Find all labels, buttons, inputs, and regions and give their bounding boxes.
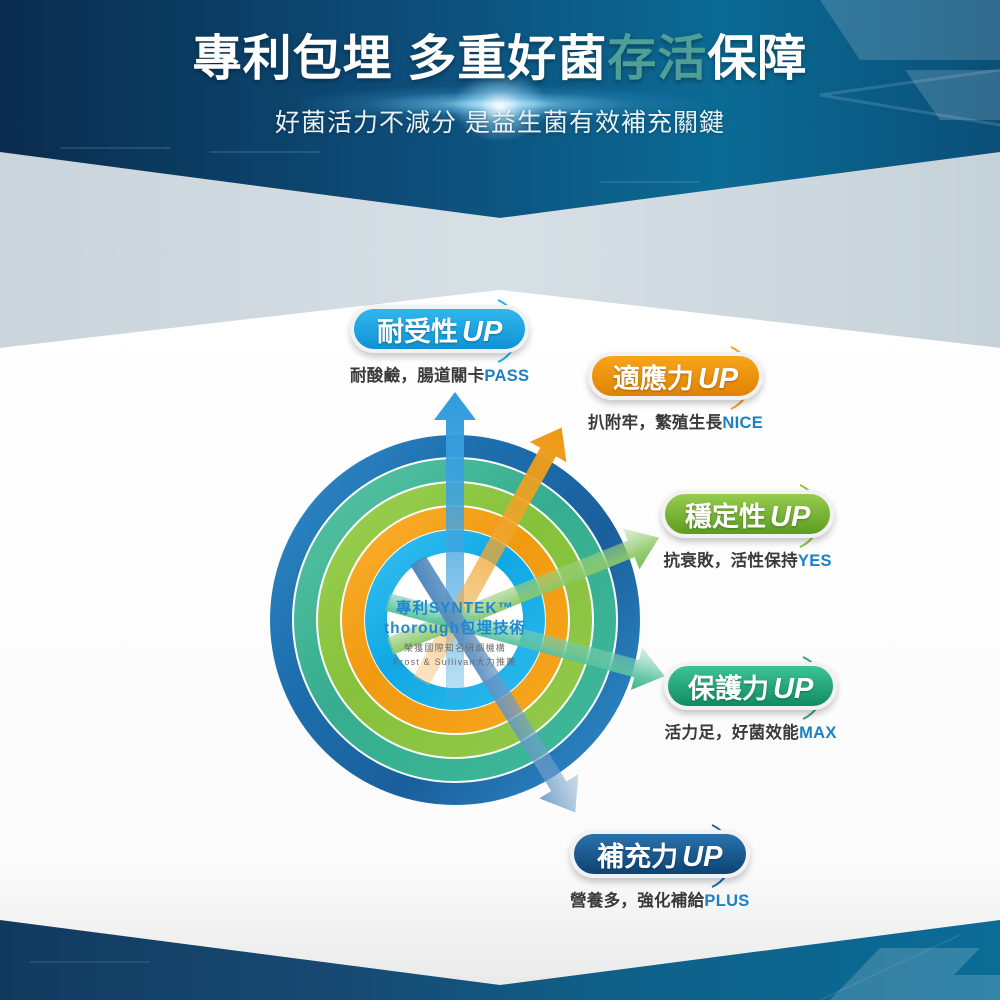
badge-supplement-label: 補充力UP — [597, 835, 722, 874]
center-label: 專利SYNTEK™ thorough包埋技術 榮獲國際知名研調機構 Frost … — [384, 598, 526, 667]
badge-tolerance-pill[interactable]: 耐受性UP — [350, 305, 529, 353]
concentric-ring-diagram: 專利SYNTEK™ thorough包埋技術 榮獲國際知名研調機構 Frost … — [0, 0, 1000, 1000]
badge-tolerance[interactable]: 耐受性UP 耐酸鹼，腸道關卡PASS — [350, 305, 529, 386]
badge-protection-pill[interactable]: 保護力UP — [664, 662, 837, 710]
infographic-stage: 專利包埋 多重好菌存活保障 好菌活力不減分 是益生菌有效補充關鍵 — [0, 0, 1000, 1000]
center-line-4: Frost & Sullivan大力推薦 — [393, 656, 516, 667]
badge-stability-caption: 抗衰敗，活性保持YES — [661, 547, 834, 571]
center-line-2: thorough包埋技術 — [384, 618, 526, 637]
badge-stability-label: 穩定性UP — [685, 495, 810, 534]
center-line-1: 專利SYNTEK™ — [396, 598, 514, 617]
badge-protection-caption: 活力足，好菌效能MAX — [664, 719, 837, 743]
badge-adaptability[interactable]: 適應力UP 扒附牢，繁殖生長NICE — [588, 352, 763, 433]
center-line-3: 榮獲國際知名研調機構 — [404, 642, 506, 653]
badge-protection-label: 保護力UP — [688, 667, 813, 706]
badge-adaptability-caption: 扒附牢，繁殖生長NICE — [588, 409, 763, 433]
badge-protection[interactable]: 保護力UP 活力足，好菌效能MAX — [664, 662, 837, 743]
badge-supplement[interactable]: 補充力UP 營養多，強化補給PLUS — [570, 830, 750, 911]
badge-supplement-pill[interactable]: 補充力UP — [570, 830, 750, 878]
badge-supplement-caption: 營養多，強化補給PLUS — [570, 887, 750, 911]
badge-tolerance-label: 耐受性UP — [377, 310, 502, 349]
badge-tolerance-caption: 耐酸鹼，腸道關卡PASS — [350, 362, 529, 386]
badge-adaptability-label: 適應力UP — [613, 357, 738, 396]
badge-stability[interactable]: 穩定性UP 抗衰敗，活性保持YES — [661, 490, 834, 571]
badge-adaptability-pill[interactable]: 適應力UP — [588, 352, 763, 400]
badge-stability-pill[interactable]: 穩定性UP — [661, 490, 834, 538]
